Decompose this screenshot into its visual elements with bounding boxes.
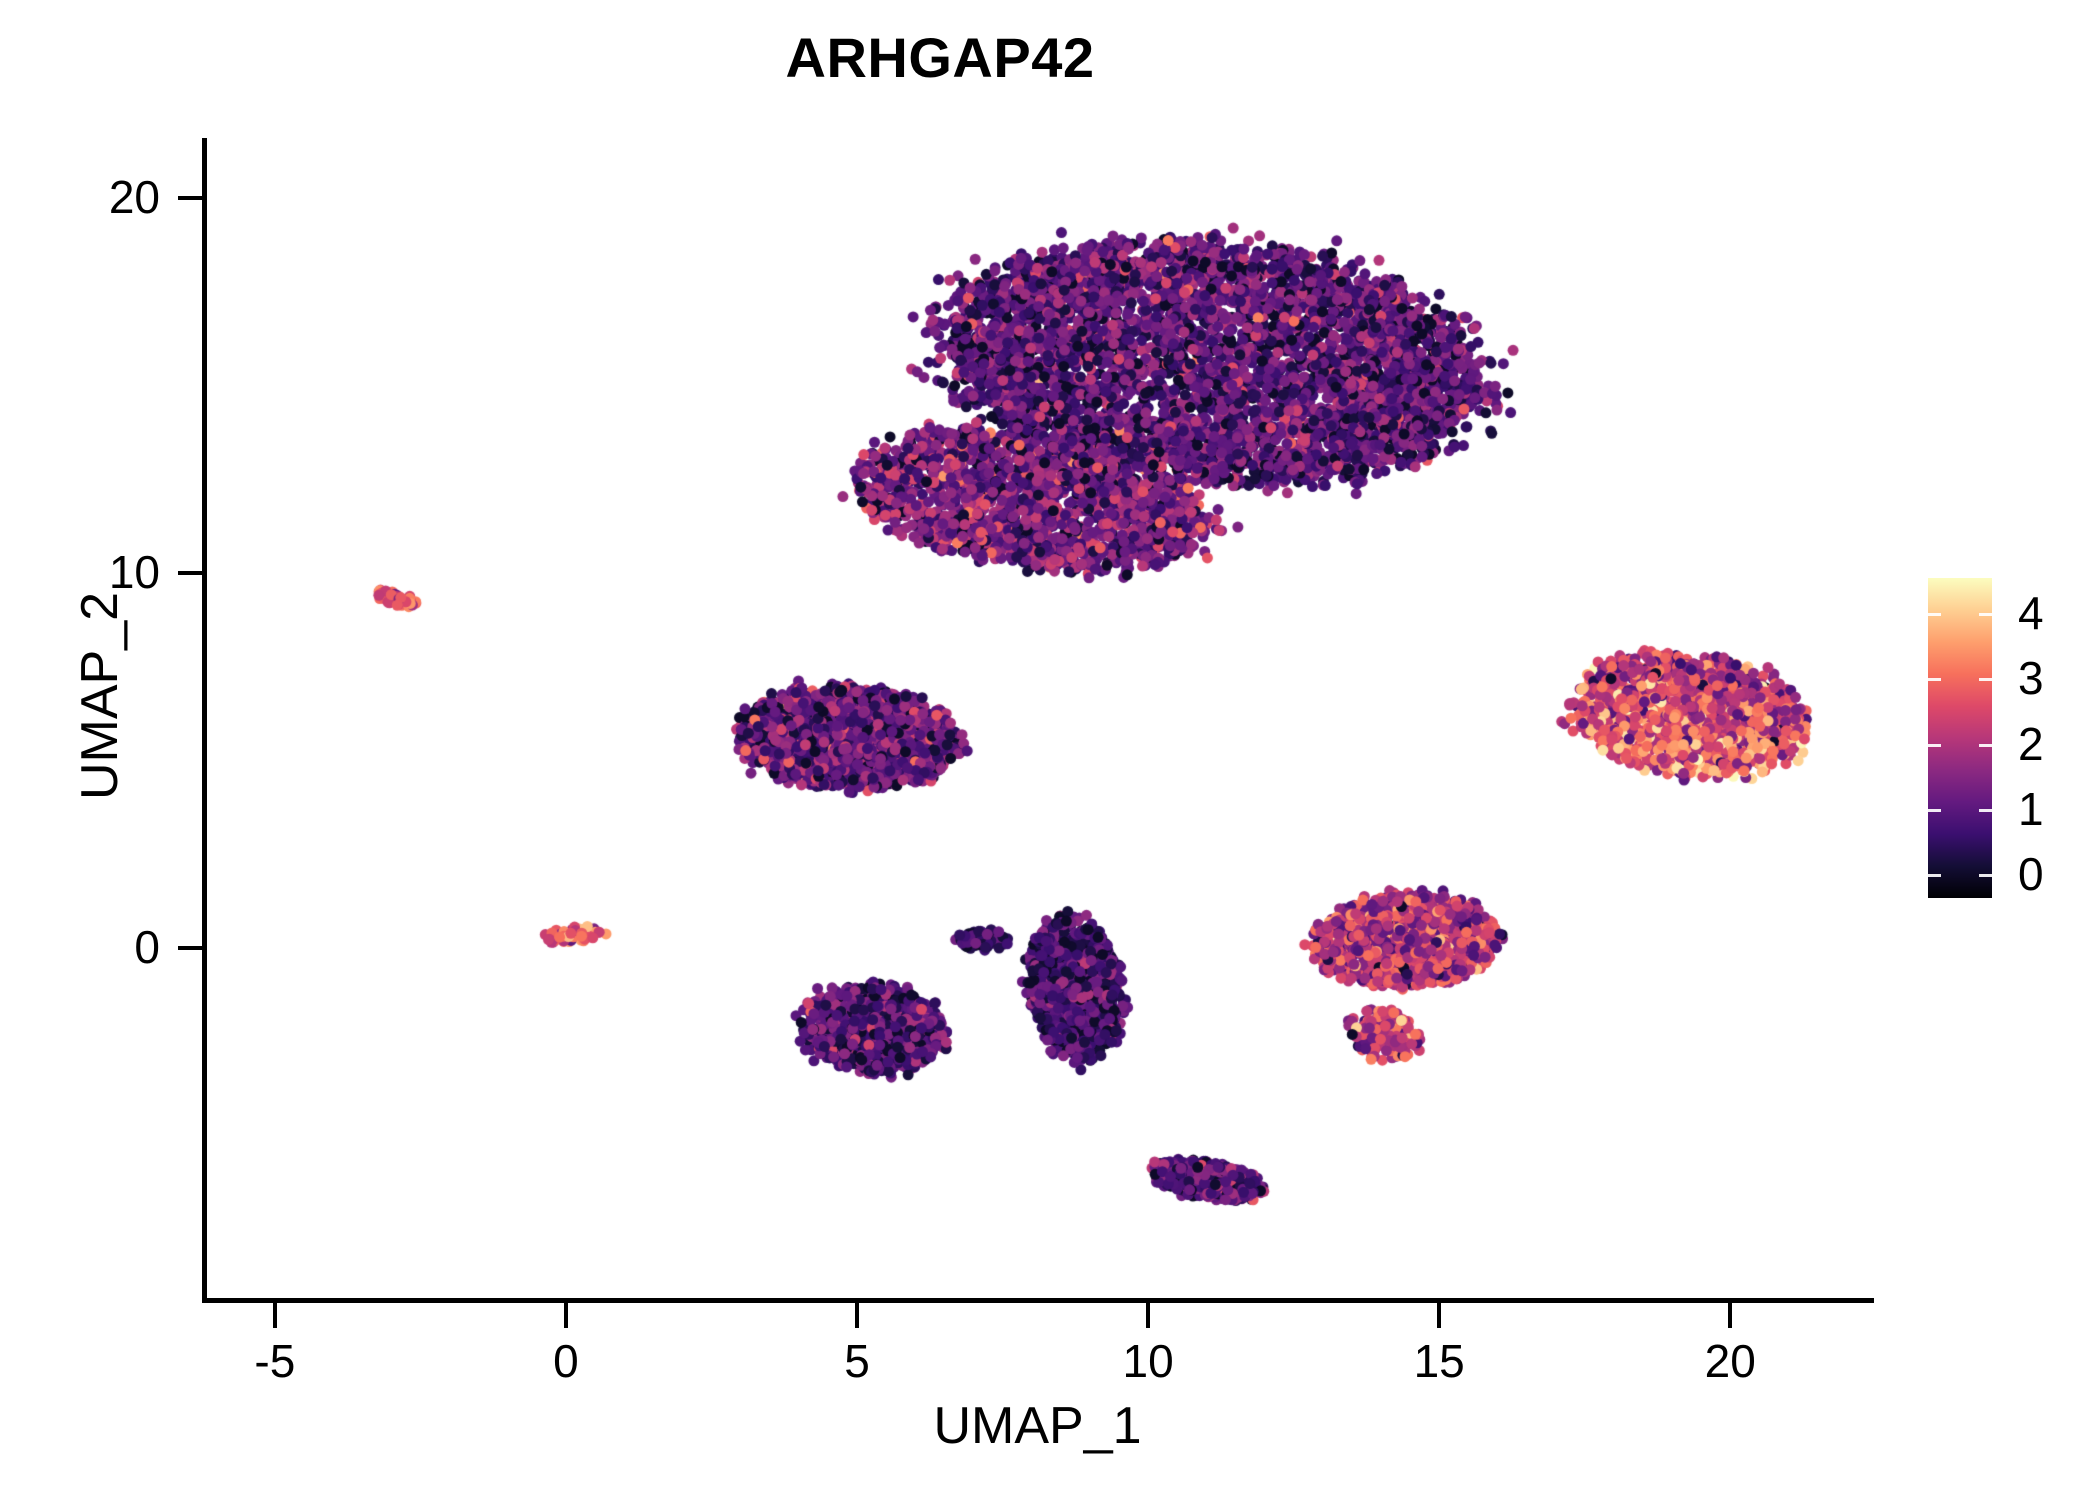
colorbar-gradient	[1928, 578, 1992, 898]
colorbar-tick-mark	[1979, 613, 1992, 616]
x-tick-label: 15	[1359, 1338, 1519, 1384]
x-tick-mark	[1437, 1302, 1441, 1328]
x-axis-title: UMAP_1	[205, 1400, 1870, 1452]
y-axis-title: UMAP_2	[74, 296, 126, 1096]
colorbar-tick-mark	[1979, 809, 1992, 812]
colorbar-tick-mark	[1928, 874, 1941, 877]
x-tick-mark	[273, 1302, 277, 1328]
plot-panel	[205, 138, 1870, 1300]
y-axis-line	[202, 138, 207, 1302]
x-tick-mark	[1146, 1302, 1150, 1328]
colorbar-tick-label: 2	[2018, 721, 2100, 767]
y-tick-mark	[178, 196, 204, 200]
x-tick-mark	[855, 1302, 859, 1328]
x-tick-mark	[1728, 1302, 1732, 1328]
colorbar-tick-label: 0	[2018, 851, 2100, 897]
colorbar-tick-mark	[1928, 744, 1941, 747]
colorbar-legend	[1928, 578, 1992, 898]
colorbar-tick-mark	[1979, 874, 1992, 877]
colorbar-tick-mark	[1928, 809, 1941, 812]
x-tick-label: 10	[1068, 1338, 1228, 1384]
y-tick-mark	[178, 571, 204, 575]
colorbar-tick-mark	[1979, 678, 1992, 681]
colorbar-tick-label: 3	[2018, 655, 2100, 701]
x-tick-label: -5	[195, 1338, 355, 1384]
colorbar-tick-mark	[1979, 744, 1992, 747]
x-axis-line	[202, 1298, 1874, 1303]
colorbar-tick-label: 1	[2018, 786, 2100, 832]
x-tick-label: 5	[777, 1338, 937, 1384]
colorbar-tick-label: 4	[2018, 590, 2100, 636]
umap-feature-plot: ARHGAP42 01020 -505101520 UMAP_1 UMAP_2 …	[0, 0, 2100, 1500]
colorbar-tick-mark	[1928, 613, 1941, 616]
colorbar-tick-mark	[1928, 678, 1941, 681]
x-tick-mark	[564, 1302, 568, 1328]
x-tick-label: 20	[1650, 1338, 1810, 1384]
scatter-plot-canvas	[205, 138, 1870, 1300]
y-tick-mark	[178, 946, 204, 950]
page-title: ARHGAP42	[0, 30, 1880, 86]
y-tick-label: 20	[40, 174, 160, 220]
x-tick-label: 0	[486, 1338, 646, 1384]
